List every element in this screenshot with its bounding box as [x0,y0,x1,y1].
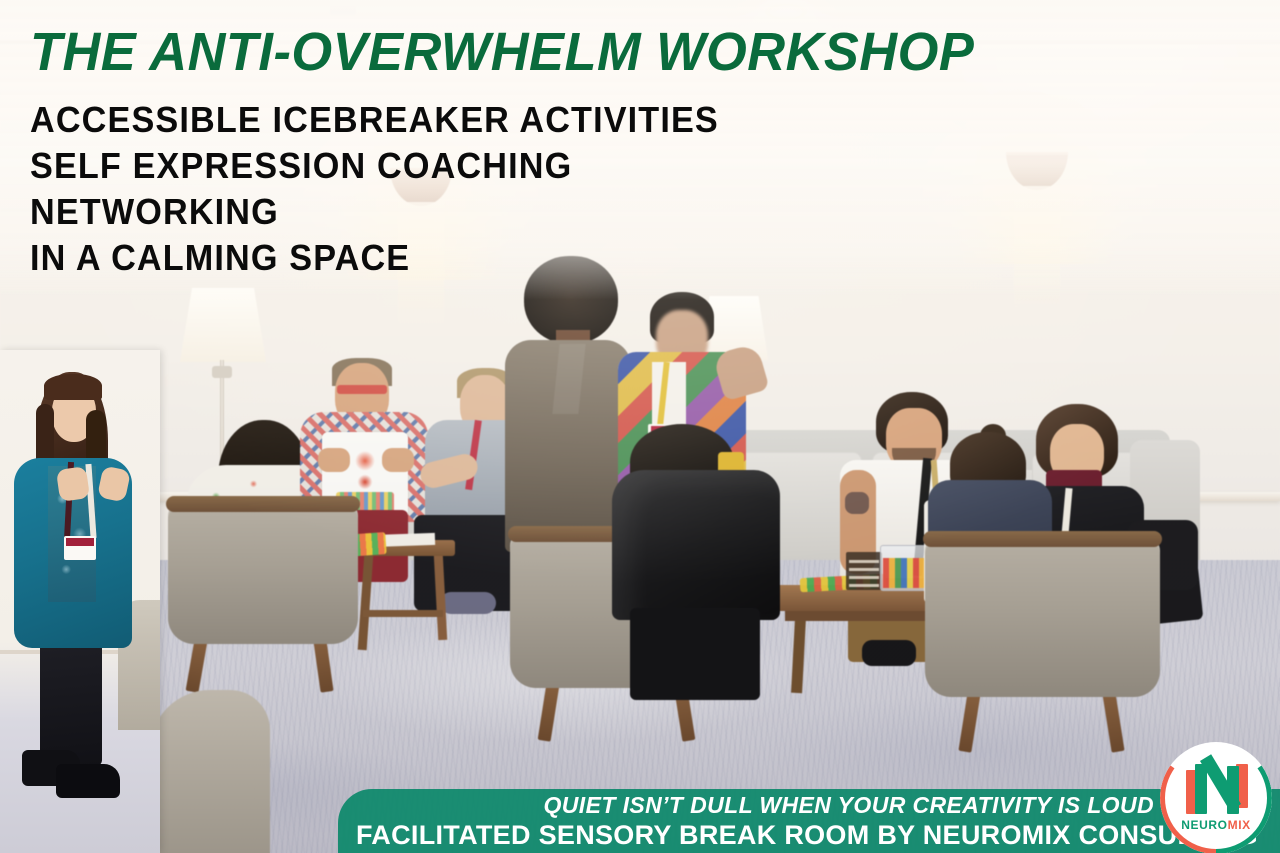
bottom-banner: QUIET ISN’T DULL WHEN YOUR CREATIVITY IS… [338,789,1280,853]
armchair-right [925,535,1160,760]
craft-box [846,552,882,590]
headline-block: THE ANTI-OVERWHELM WORKSHOP ACCESSIBLE I… [30,24,1030,281]
person-leather-jacket [612,470,780,620]
person-apron-glasses [337,385,387,394]
banner-tagline: QUIET ISN’T DULL WHEN YOUR CREATIVITY IS… [544,792,1155,819]
feature-item: ACCESSIBLE ICEBREAKER ACTIVITIES [30,97,980,143]
feature-item: IN A CALMING SPACE [30,235,980,281]
neuromix-logo: NEUROMIX [1160,742,1272,853]
armchair-left [168,500,358,700]
floor-lamp-knob [212,366,232,378]
poster-root: THE ANTI-OVERWHELM WORKSHOP ACCESSIBLE I… [0,0,1280,853]
armchair-foreground [150,690,270,853]
person-apron-hands [318,448,414,476]
neuromix-n-monogram-icon [1186,764,1248,814]
feature-item: SELF EXPRESSION COACHING [30,143,980,189]
logo-wordmark-accent: MIX [1228,818,1251,832]
logo-wordmark-primary: NEURO [1181,818,1227,832]
page-title: THE ANTI-OVERWHELM WORKSHOP [30,24,1000,81]
inset-photo-presenter [0,350,160,853]
person-whiteshirt-tattoo [845,492,869,514]
side-table [355,540,455,650]
banner-subline: FACILITATED SENSORY BREAK ROOM BY NEUROM… [356,820,1258,851]
feature-list: ACCESSIBLE ICEBREAKER ACTIVITIES SELF EX… [30,97,1030,281]
feature-item: NETWORKING [30,189,980,235]
person-leather-trousers [630,608,760,700]
logo-wordmark: NEUROMIX [1160,818,1272,832]
